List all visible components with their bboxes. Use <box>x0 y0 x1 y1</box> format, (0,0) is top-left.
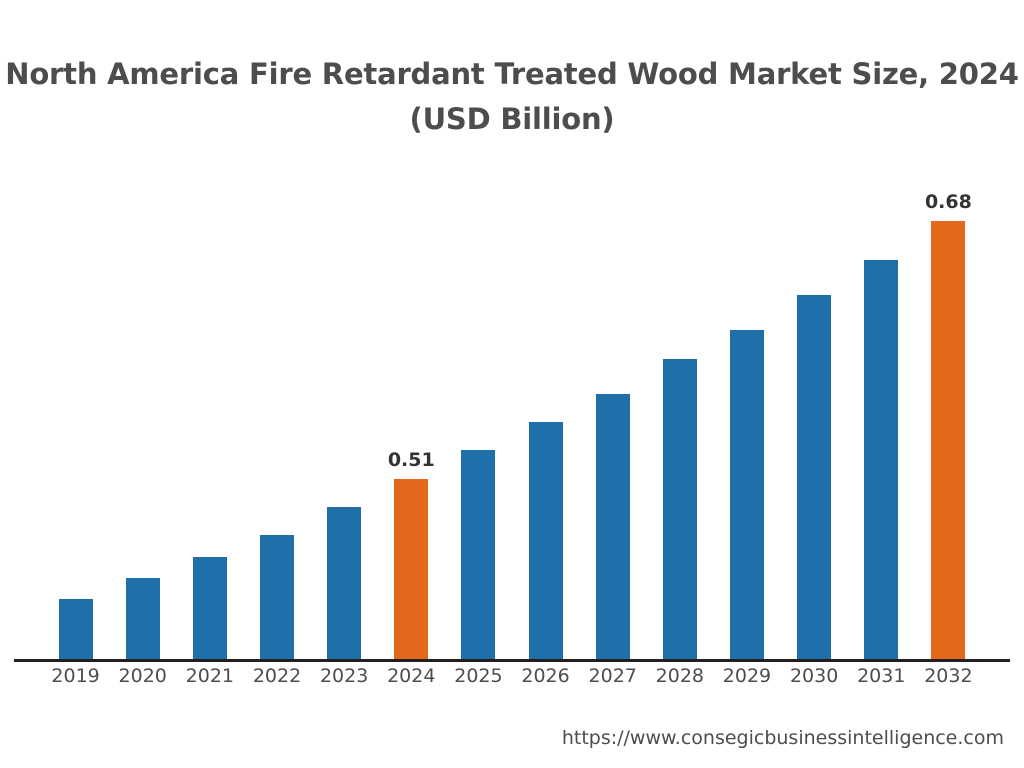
chart-container: North America Fire Retardant Treated Woo… <box>0 0 1024 768</box>
x-tick-2019: 2019 <box>42 665 109 687</box>
x-tick-2032: 2032 <box>915 665 982 687</box>
source-url[interactable]: https://www.consegicbusinessintelligence… <box>0 727 1004 749</box>
bar-2025[interactable] <box>461 450 495 659</box>
x-tick-2024: 2024 <box>378 665 445 687</box>
bar-slot-2026 <box>512 150 579 659</box>
bar-2027[interactable] <box>596 394 630 659</box>
bar-2032[interactable] <box>931 221 965 659</box>
bar-value-label-2032: 0.68 <box>893 191 1003 213</box>
bar-slot-2030 <box>781 150 848 659</box>
x-tick-2029: 2029 <box>713 665 780 687</box>
bar-2019[interactable] <box>59 599 93 659</box>
x-tick-2026: 2026 <box>512 665 579 687</box>
plot-area: 0.51 <box>14 150 1010 662</box>
bar-slot-2021 <box>176 150 243 659</box>
bar-slot-2020 <box>109 150 176 659</box>
x-tick-2023: 2023 <box>311 665 378 687</box>
x-tick-2031: 2031 <box>848 665 915 687</box>
bar-slot-2019 <box>42 150 109 659</box>
x-tick-2020: 2020 <box>109 665 176 687</box>
x-tick-2028: 2028 <box>646 665 713 687</box>
bar-2031[interactable] <box>864 260 898 659</box>
bar-slot-2024: 0.51 <box>378 150 445 659</box>
bar-2020[interactable] <box>126 578 160 659</box>
bar-2021[interactable] <box>193 557 227 660</box>
chart-title: North America Fire Retardant Treated Woo… <box>0 52 1024 142</box>
bar-slot-2022 <box>243 150 310 659</box>
bar-2024[interactable] <box>394 479 428 659</box>
bar-slot-2032: 0.68 <box>915 150 982 659</box>
bar-2029[interactable] <box>730 330 764 659</box>
bar-2026[interactable] <box>529 422 563 659</box>
x-tick-2025: 2025 <box>445 665 512 687</box>
bar-2030[interactable] <box>797 295 831 659</box>
x-axis-tick-labels: 2019 2020 2021 2022 2023 2024 2025 2026 … <box>14 665 1010 687</box>
bar-slot-2031 <box>848 150 915 659</box>
bar-slot-2025 <box>445 150 512 659</box>
x-tick-2022: 2022 <box>243 665 310 687</box>
bar-slot-2023 <box>311 150 378 659</box>
chart-title-line1: North America Fire Retardant Treated Woo… <box>5 57 1018 91</box>
bar-2022[interactable] <box>260 535 294 659</box>
x-tick-2030: 2030 <box>781 665 848 687</box>
bar-2023[interactable] <box>327 507 361 659</box>
x-tick-2027: 2027 <box>579 665 646 687</box>
x-axis-line <box>14 659 1010 662</box>
bar-slot-2027 <box>579 150 646 659</box>
x-tick-2021: 2021 <box>176 665 243 687</box>
bar-slot-2028 <box>646 150 713 659</box>
bar-series: 0.51 <box>14 150 1010 659</box>
chart-title-line2: (USD Billion) <box>0 97 1024 142</box>
bar-2028[interactable] <box>663 359 697 659</box>
bar-slot-2029 <box>713 150 780 659</box>
